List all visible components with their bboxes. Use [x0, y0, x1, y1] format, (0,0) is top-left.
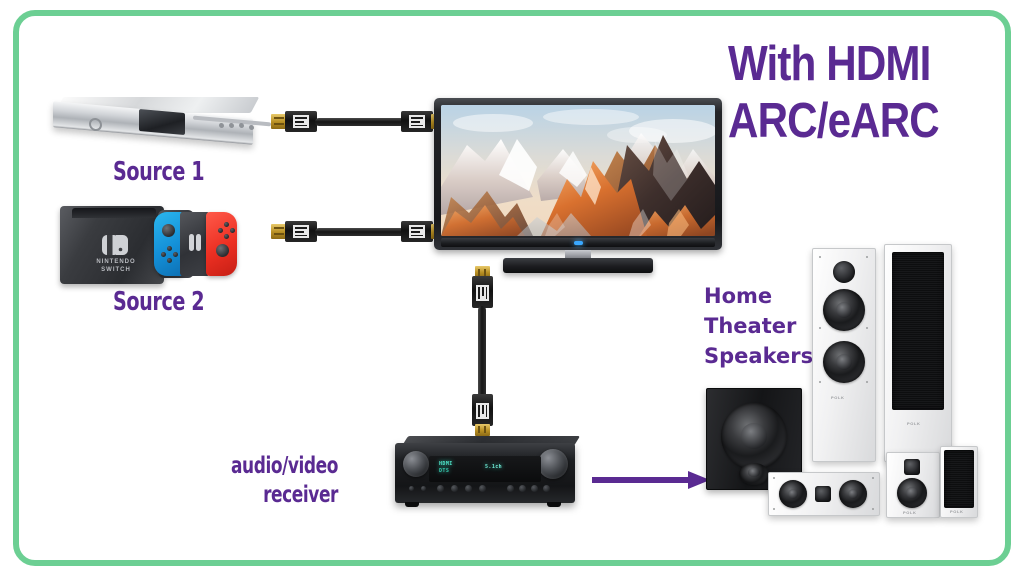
subwoofer-driver: [721, 403, 787, 469]
tower-grille: [892, 252, 944, 410]
x-button: [224, 222, 229, 227]
y-button: [218, 228, 223, 233]
tower-woofer-driver: [823, 341, 865, 383]
receiver-mode-button: [507, 485, 514, 492]
hdmi-connector-label-left: [293, 115, 309, 128]
av-receiver-label: audio/videoreceiver: [231, 452, 338, 511]
hdmi-connector-label-right: [409, 115, 425, 128]
b-button: [224, 234, 229, 239]
av-receiver: HDMI DTS 5.1ch: [395, 436, 579, 510]
hdmi-connector-label-bottom: [476, 403, 489, 419]
tv-screen: [441, 105, 715, 236]
nintendo-switch-logo-icon: [100, 234, 130, 256]
hdmi-cable-source1-to-tv: [271, 108, 449, 136]
receiver-display: HDMI DTS 5.1ch: [437, 461, 523, 475]
receiver-front-panel: HDMI DTS 5.1ch: [395, 443, 575, 503]
player-power-button: [89, 117, 102, 131]
receiver-label-line1: audio/video: [231, 453, 338, 479]
hdmi-cable-wire: [315, 118, 405, 126]
bookshelf-grille: [944, 450, 974, 508]
hdmi-connector-label-top: [476, 285, 489, 301]
bookshelf-tweeter: [904, 459, 920, 475]
receiver-volume-knob: [538, 449, 568, 479]
player-display-window: [139, 109, 185, 135]
bookshelf-brand-badge: POLK: [950, 509, 964, 514]
left-analog-stick: [162, 224, 175, 237]
tower-brand-badge: POLK: [831, 395, 845, 400]
a-button: [230, 228, 235, 233]
tv-power-led: [574, 241, 583, 245]
hdmi-arc-cable-tv-to-receiver: [468, 266, 498, 442]
diagram-canvas: With HDMIARC/eARC Source 1 NINTENDOSWITC…: [0, 0, 1024, 576]
tv-stand-base: [503, 258, 653, 273]
bookshelf-woofer: [897, 478, 927, 508]
joycon-right-red: [206, 212, 237, 276]
bookshelf-brand-badge: POLK: [903, 510, 917, 515]
center-woofer-left: [779, 480, 807, 508]
receiver-mode-button: [543, 485, 550, 492]
title-line-1: With HDMI: [728, 37, 931, 91]
player-button: [229, 123, 234, 128]
switch-dock-slot: [72, 208, 156, 218]
source2-nintendo-switch: NINTENDOSWITCH: [58, 200, 258, 285]
television: [434, 98, 722, 250]
receiver-label-line2: receiver: [263, 482, 338, 508]
center-woofer-right: [839, 480, 867, 508]
receiver-display-text: HDMI: [439, 461, 453, 467]
hdmi-cable-wire: [478, 306, 486, 398]
hdmi-cable-source2-to-tv: [271, 218, 449, 246]
dpad-button: [161, 252, 166, 257]
tower-tweeter: [833, 261, 855, 283]
switch-dock: NINTENDOSWITCH: [60, 206, 164, 284]
center-tweeter: [815, 486, 831, 502]
center-channel-speaker: [768, 472, 880, 516]
hdmi-cable-wire: [315, 228, 405, 236]
title-line-2: ARC/eARC: [728, 94, 939, 148]
bookshelf-speaker-grille: POLK: [940, 446, 978, 518]
hdmi-connector-gold-bottom: [475, 424, 490, 436]
tower-midrange-driver: [823, 289, 865, 331]
tower-brand-badge: POLK: [907, 421, 921, 426]
dpad-button: [167, 246, 172, 251]
dpad-button: [167, 258, 172, 263]
right-analog-stick: [216, 244, 229, 257]
receiver-source-button: [437, 485, 444, 492]
home-theater-speaker-system: POLK POLK POLK POLK: [700, 240, 976, 515]
switch-logo-small-icon: [189, 234, 201, 251]
bookshelf-speaker-white: POLK: [886, 452, 940, 518]
receiver-mode-button: [519, 485, 526, 492]
tower-speaker-left: POLK: [812, 248, 876, 462]
receiver-source-button: [479, 485, 486, 492]
dpad-button: [173, 252, 178, 257]
receiver-input-knob: [403, 451, 429, 477]
player-button: [239, 123, 244, 128]
player-button: [219, 123, 224, 128]
subwoofer-port: [739, 463, 769, 485]
tv-screen-mountain-landscape: [441, 105, 715, 236]
hdmi-connector-label-right: [409, 225, 425, 238]
receiver-source-button: [451, 485, 458, 492]
switch-brand-text: NINTENDOSWITCH: [82, 258, 150, 274]
receiver-to-speakers-arrow: [592, 469, 710, 491]
receiver-mode-button: [531, 485, 538, 492]
hdmi-connector-label-left: [293, 225, 309, 238]
source1-bluray-player: [53, 97, 258, 149]
receiver-source-button: [465, 485, 472, 492]
source2-label: Source 2: [113, 289, 204, 315]
receiver-power-button: [409, 486, 414, 491]
player-button: [249, 125, 254, 130]
source1-label: Source 1: [113, 159, 204, 185]
diagram-title: With HDMIARC/eARC: [728, 36, 939, 151]
tower-speaker-right: POLK: [884, 244, 952, 462]
receiver-headphone-jack: [421, 486, 426, 491]
